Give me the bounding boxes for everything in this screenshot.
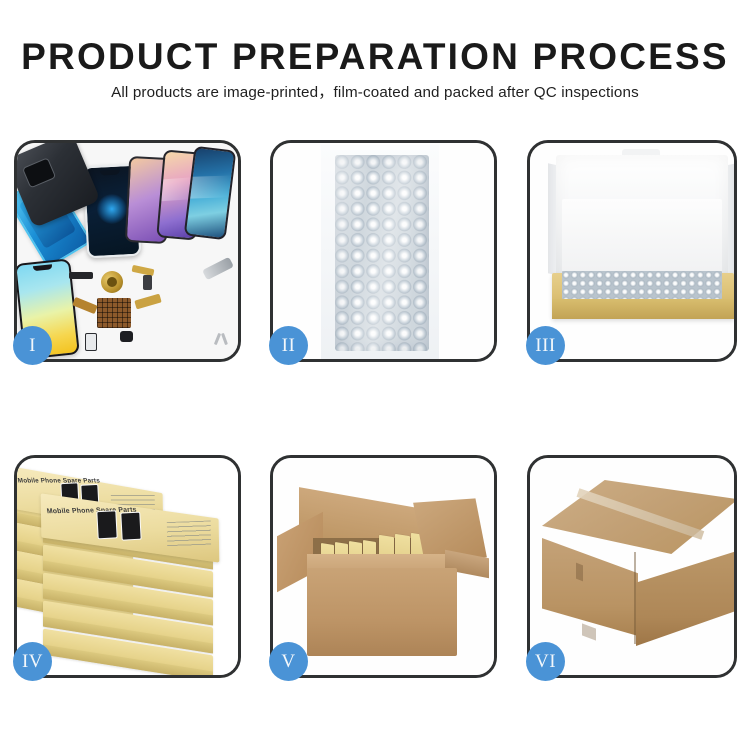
step-4-image: Mobile Phone Spare Parts Mobile Phone Sp… — [17, 458, 238, 675]
box-stack: Mobile Phone Spare Parts Mobile Phone Sp… — [17, 466, 238, 675]
connector-chip-part — [97, 298, 131, 328]
box-lid-phone-image — [96, 510, 117, 539]
battery-part — [143, 275, 152, 290]
carton-corner-edge — [634, 552, 636, 644]
bubble-wrap-inside-box — [562, 271, 722, 299]
step-panel-3[interactable]: III — [527, 140, 737, 362]
speaker-part — [69, 272, 93, 279]
step-5-image — [273, 458, 494, 675]
step-panel-1[interactable]: I — [14, 140, 241, 362]
step-2-image — [273, 143, 494, 359]
page-subtitle: All products are image-printed，film-coat… — [0, 85, 750, 100]
foam-insert — [562, 199, 722, 277]
step-panel-6[interactable]: VI — [527, 455, 737, 678]
kraft-box-front-face — [552, 299, 734, 319]
bubble-wrap-sheet — [335, 155, 429, 351]
step-badge-1: I — [13, 326, 52, 365]
step-1-image — [17, 143, 238, 359]
step-3-image — [530, 143, 734, 359]
step-badge-3: III — [526, 326, 565, 365]
carton-body — [307, 568, 457, 656]
step-badge-6: VI — [526, 642, 565, 681]
step-badge-2: II — [269, 326, 308, 365]
camera-module-part — [120, 331, 133, 342]
page-title: PRODUCT PREPARATION PROCESS — [0, 38, 750, 75]
step-panel-5[interactable]: V — [270, 455, 497, 678]
step-badge-5: V — [269, 642, 308, 681]
box-lid-spec-text — [167, 520, 211, 548]
product-preparation-infographic: PRODUCT PREPARATION PROCESS All products… — [0, 0, 750, 750]
step-panel-4[interactable]: Mobile Phone Spare Parts Mobile Phone Sp… — [14, 455, 241, 678]
sim-tray-part — [85, 333, 97, 351]
step-panel-2[interactable]: II — [270, 140, 497, 362]
carton-seam-upper — [576, 563, 583, 582]
step-badge-4: IV — [13, 642, 52, 681]
screws-part — [214, 333, 230, 347]
step-6-image — [530, 458, 734, 675]
box-lid-phone-image — [120, 512, 141, 541]
vibration-motor-part — [101, 271, 123, 293]
